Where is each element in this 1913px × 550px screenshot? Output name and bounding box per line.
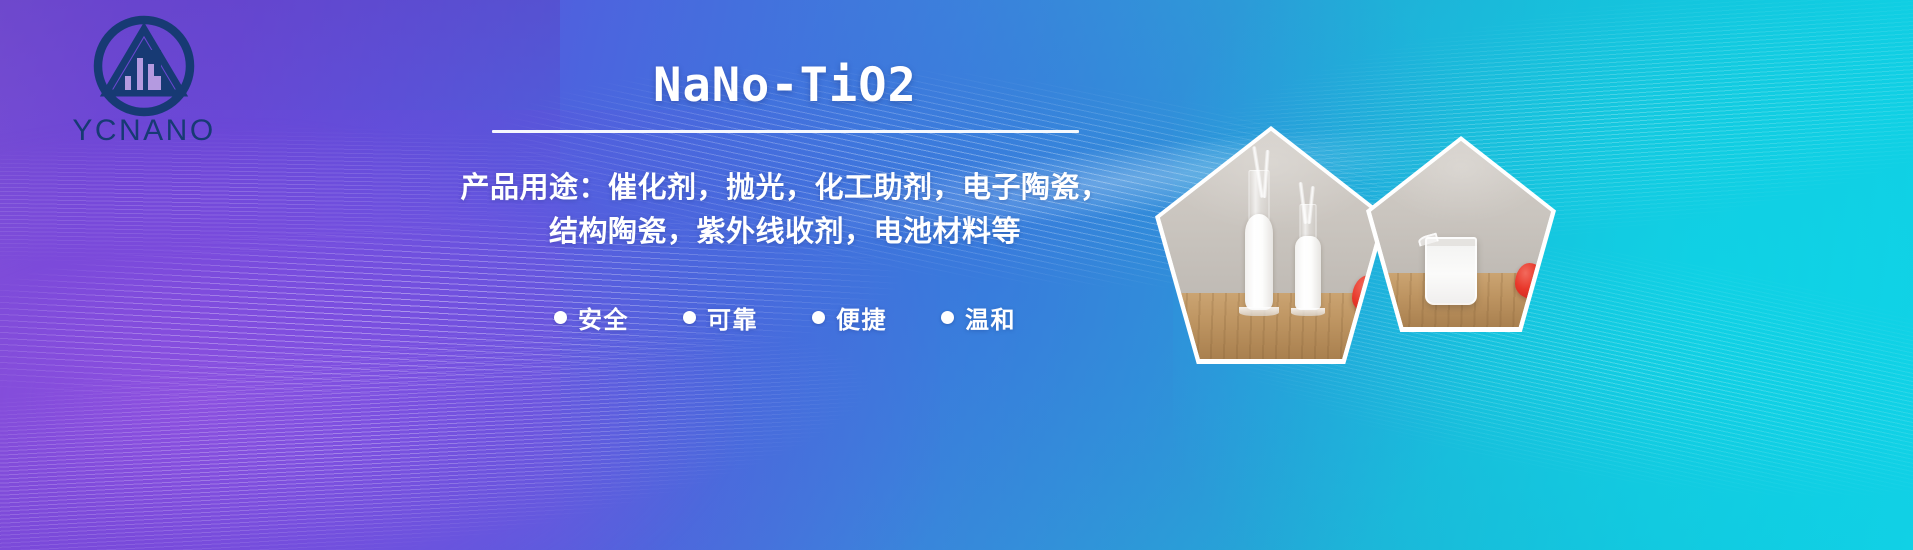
title-divider [492, 130, 1079, 133]
page-title: NaNo-TiO2 [430, 60, 1140, 112]
feature-label: 安全 [578, 300, 629, 335]
feature-label: 可靠 [707, 300, 758, 335]
circle-triangle-mountain-logo-icon [92, 14, 196, 118]
pentagon-photo-vases [1155, 126, 1387, 364]
white-vase-tall [1236, 156, 1282, 316]
banner-copy: NaNo-TiO2 产品用途：催化剂，抛光，化工助剂，电子陶瓷， 结构陶瓷，紫外… [430, 60, 1140, 335]
pentagon-photo-beaker [1366, 136, 1556, 332]
bullet-dot-icon [683, 311, 696, 324]
pentagon-photo-content [1371, 141, 1551, 327]
feature-item-reliable: 可靠 [683, 300, 758, 335]
feature-label: 温和 [965, 300, 1016, 335]
brand-wordmark: YCNANO [44, 116, 244, 146]
feature-list: 安全 可靠 便捷 温和 [430, 300, 1140, 335]
product-banner: YCNANO NaNo-TiO2 产品用途：催化剂，抛光，化工助剂，电子陶瓷， … [0, 0, 1913, 550]
usage-line-1: 产品用途：催化剂，抛光，化工助剂，电子陶瓷， [430, 166, 1140, 210]
feature-item-mild: 温和 [941, 300, 1016, 335]
feature-item-safe: 安全 [554, 300, 629, 335]
bullet-dot-icon [812, 311, 825, 324]
beaker-with-white-liquid [1425, 237, 1477, 305]
feature-item-convenient: 便捷 [812, 300, 887, 335]
product-usage-text: 产品用途：催化剂，抛光，化工助剂，电子陶瓷， 结构陶瓷，紫外线收剂，电池材料等 [430, 166, 1140, 254]
pentagon-photo-content [1160, 131, 1382, 359]
bullet-dot-icon [554, 311, 567, 324]
usage-line-2: 结构陶瓷，紫外线收剂，电池材料等 [430, 210, 1140, 254]
feature-label: 便捷 [836, 300, 887, 335]
bullet-dot-icon [941, 311, 954, 324]
white-vase-short [1286, 184, 1330, 316]
brand-logo[interactable]: YCNANO [44, 14, 244, 146]
